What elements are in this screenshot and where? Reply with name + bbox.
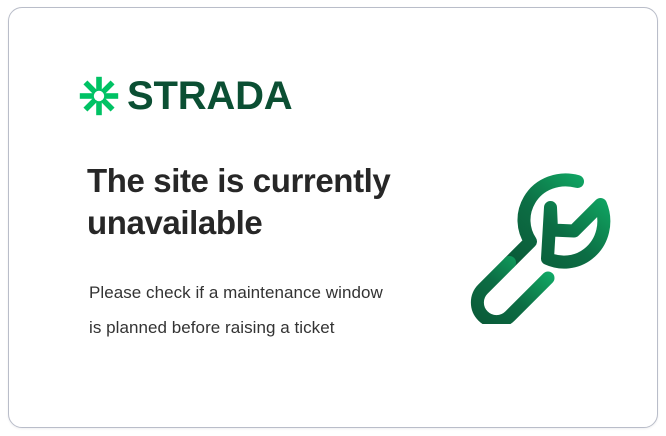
strada-asterisk-icon (79, 76, 119, 116)
status-description: Please check if a maintenance window is … (89, 276, 399, 346)
brand-lockup: STRADA (79, 70, 292, 122)
brand-wordmark: STRADA (127, 76, 292, 116)
status-card: STRADA The site is currently unavailable… (8, 7, 658, 428)
screen-root: STRADA The site is currently unavailable… (0, 0, 666, 436)
wrench-icon (461, 156, 629, 324)
page-title: The site is currently unavailable (87, 160, 417, 243)
